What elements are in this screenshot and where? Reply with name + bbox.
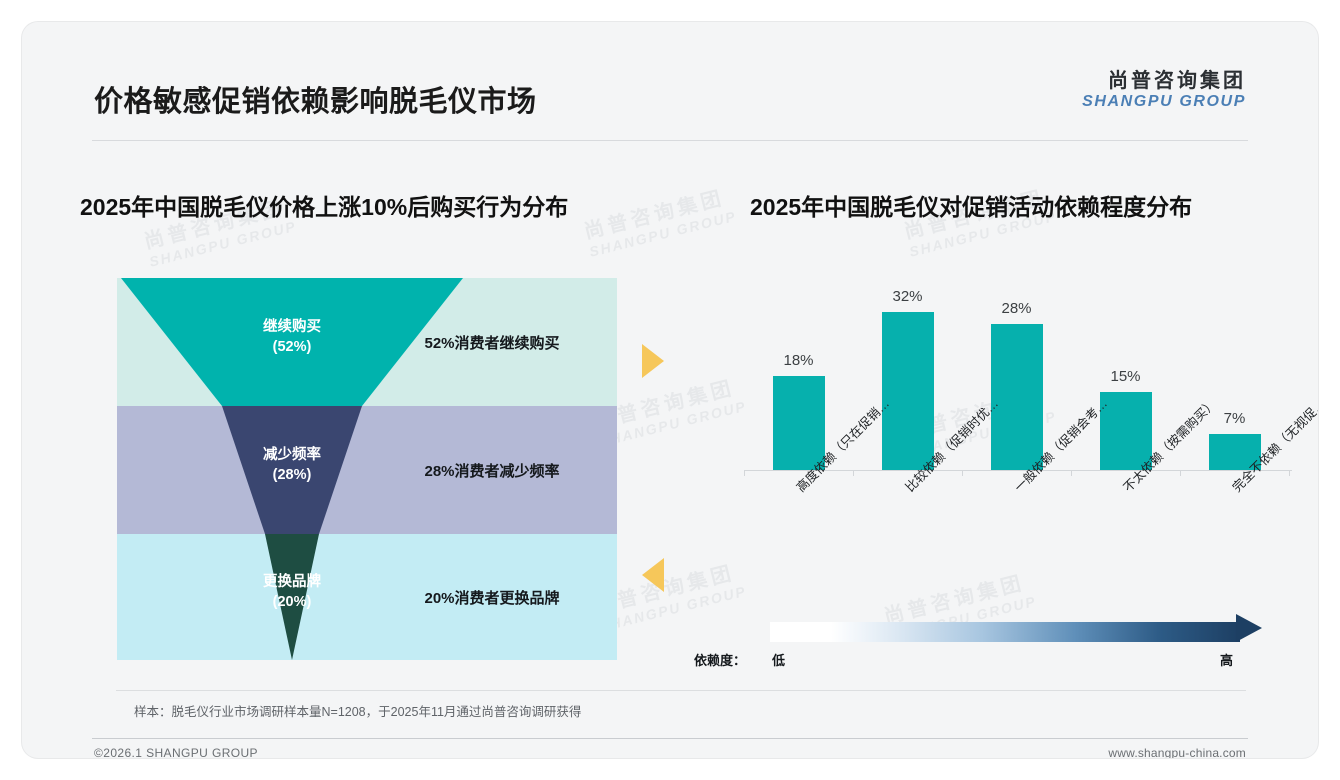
legend-high-label: 高 <box>1220 650 1233 669</box>
funnel-segment-name: 继续购买 <box>202 318 382 338</box>
x-axis-tick <box>1071 470 1072 476</box>
logo-text-cn: 尚普咨询集团 <box>1082 70 1246 92</box>
legend-title: 依赖度： <box>694 650 746 669</box>
slide-header: 价格敏感促销依赖影响脱毛仪市场 尚普咨询集团 SHANGPU GROUP <box>22 22 1318 118</box>
right-chart-title: 2025年中国脱毛仪对促销活动依赖程度分布 <box>750 188 1192 222</box>
funnel-segment-label: 减少频率(28%) <box>202 446 382 485</box>
source-note: 样本：脱毛仪行业市场调研样本量N=1208，于2025年11月通过尚普咨询调研获… <box>134 701 581 720</box>
bar-value-label: 32% <box>892 288 922 305</box>
watermark: 尚普咨询集团 SHANGPU GROUP <box>582 185 738 259</box>
arrow-left-icon <box>642 558 664 592</box>
bar-chart: 18%32%28%15%7% 高度依赖（只在促销…比较依赖（促销时优…一般依赖（… <box>722 278 1302 608</box>
legend-low-label: 低 <box>772 650 785 669</box>
funnel-chart: 52%消费者继续购买28%消费者减少频率20%消费者更换品牌 继续购买(52%)… <box>117 278 617 660</box>
source-divider <box>116 690 1246 691</box>
watermark-cn: 尚普咨询集团 <box>582 185 734 244</box>
page-title: 价格敏感促销依赖影响脱毛仪市场 <box>94 78 537 120</box>
bar-value-label: 15% <box>1110 368 1140 385</box>
bar-rect[interactable] <box>991 324 1043 470</box>
slide-canvas: 尚普咨询集团 SHANGPU GROUP 尚普咨询集团 SHANGPU GROU… <box>22 22 1318 758</box>
x-axis-tick <box>853 470 854 476</box>
x-axis-tick <box>962 470 963 476</box>
header-divider <box>92 140 1248 141</box>
bar-rect[interactable] <box>882 312 934 470</box>
funnel-segment-name: 更换品牌 <box>202 573 382 593</box>
funnel-segment-label: 更换品牌(20%) <box>202 573 382 612</box>
arrow-right-icon <box>642 344 664 378</box>
watermark-en: SHANGPU GROUP <box>148 218 299 270</box>
brand-logo: 尚普咨询集团 SHANGPU GROUP <box>1082 70 1246 111</box>
funnel-segment-value: (28%) <box>202 466 382 486</box>
logo-text-en: SHANGPU GROUP <box>1082 92 1246 111</box>
x-axis-tick <box>1289 470 1290 476</box>
footer-website[interactable]: www.shangpu-china.com <box>1108 746 1246 758</box>
x-axis-tick <box>744 470 745 476</box>
funnel-segment-label: 继续购买(52%) <box>202 318 382 357</box>
x-axis-tick <box>1180 470 1181 476</box>
bar-value-label: 28% <box>1001 300 1031 317</box>
gradient-bar <box>770 622 1240 642</box>
footer-divider <box>92 738 1248 739</box>
bar-value-label: 18% <box>783 352 813 369</box>
footer-copyright: ©2026.1 SHANGPU GROUP <box>94 746 258 758</box>
funnel-segment-value: (52%) <box>202 338 382 358</box>
dependency-gradient-legend: 依赖度： 低 高 <box>722 618 1302 674</box>
bar-value-label: 7% <box>1224 410 1246 427</box>
gradient-arrow-icon <box>1236 614 1262 642</box>
funnel-segment-value: (20%) <box>202 593 382 613</box>
funnel-segment-name: 减少频率 <box>202 446 382 466</box>
left-chart-title: 2025年中国脱毛仪价格上涨10%后购买行为分布 <box>80 188 568 222</box>
watermark-en: SHANGPU GROUP <box>588 208 739 260</box>
bar-plot-area: 18%32%28%15%7% <box>744 288 1289 470</box>
